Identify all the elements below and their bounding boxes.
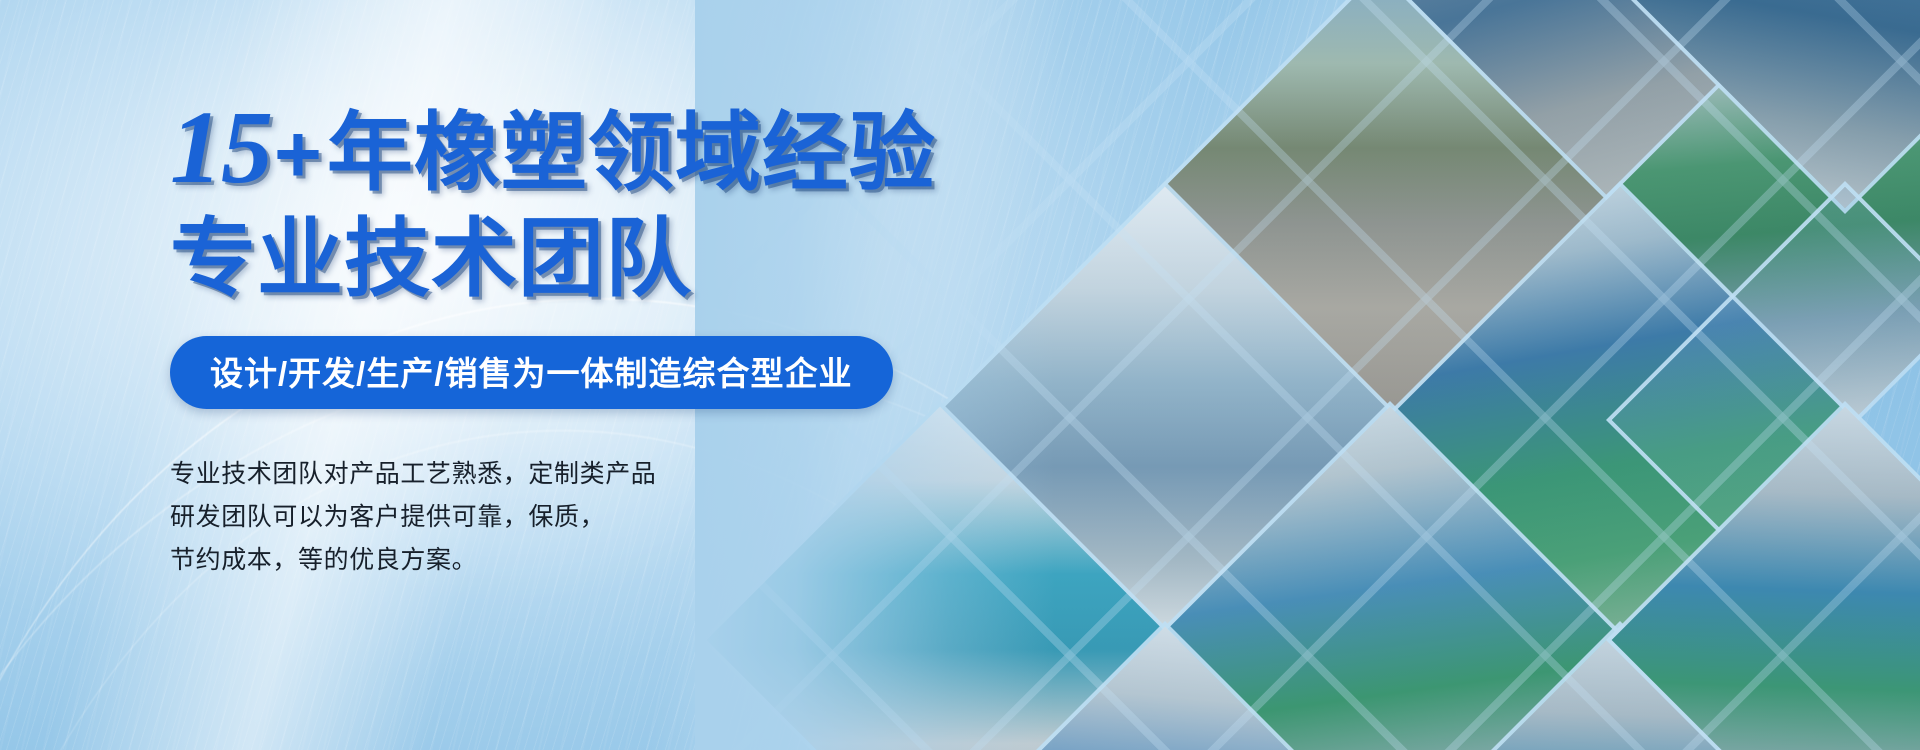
headline-number: 15	[170, 90, 272, 205]
headline-line-2: 专业技术团队	[170, 216, 930, 302]
company-hero-banner: 15+年橡塑领域经验 专业技术团队 设计/开发/生产/销售为一体制造综合型企业 …	[0, 0, 1920, 750]
description-line-3: 节约成本，等的优良方案。	[170, 539, 930, 582]
description-line-2: 研发团队可以为客户提供可靠，保质，	[170, 496, 930, 539]
hero-content: 15+年橡塑领域经验 专业技术团队 设计/开发/生产/销售为一体制造综合型企业 …	[170, 96, 930, 582]
headline-line-1: 15+年橡塑领域经验	[170, 96, 930, 200]
headline-line-1-text: 年橡塑领域经验	[327, 105, 936, 201]
headline-plus-sign: +	[274, 109, 323, 200]
description-block: 专业技术团队对产品工艺熟悉，定制类产品 研发团队可以为客户提供可靠，保质， 节约…	[170, 453, 930, 582]
description-line-1: 专业技术团队对产品工艺熟悉，定制类产品	[170, 453, 930, 496]
slogan-badge: 设计/开发/生产/销售为一体制造综合型企业	[170, 336, 893, 409]
